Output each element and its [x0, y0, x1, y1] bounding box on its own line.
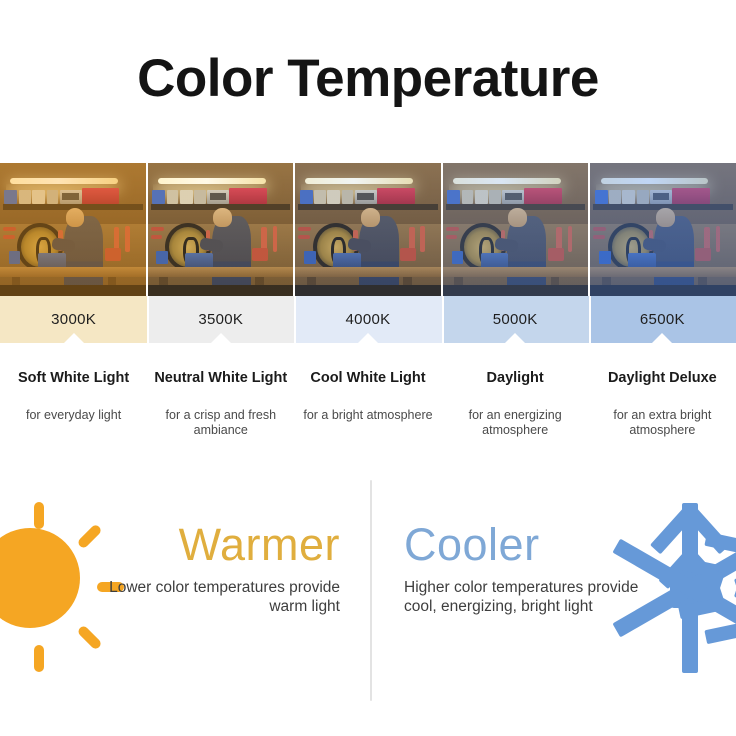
temperature-tint [295, 163, 441, 296]
sun-core [0, 528, 80, 628]
photo-panel-3000k [0, 163, 146, 296]
swatch-pointer-notch [210, 333, 232, 344]
description-cell-3500k: Neutral White Lightfor a crisp and fresh… [147, 355, 294, 480]
description-row: Soft White Lightfor everyday lightNeutra… [0, 355, 736, 480]
kelvin-label: 5000K [493, 311, 538, 328]
warmer-block: Warmer Lower color temperatures provide … [95, 522, 340, 616]
kelvin-swatch-3000k[interactable]: 3000K [0, 296, 147, 343]
light-type-name: Cool White Light [300, 370, 435, 388]
kelvin-label: 3500K [198, 311, 243, 328]
warm-cool-comparison: Warmer Lower color temperatures provide … [0, 480, 736, 736]
light-type-description: for an extra bright atmosphere [595, 408, 730, 439]
light-type-name: Soft White Light [6, 370, 141, 388]
sun-ray [34, 645, 44, 672]
photo-panel-5000k [441, 163, 589, 296]
sun-ray [0, 624, 2, 650]
swatch-pointer-notch [651, 333, 673, 344]
page-title: Color Temperature [137, 52, 599, 105]
light-type-description: for an energizing atmosphere [448, 408, 583, 439]
photo-panel-3500k [146, 163, 294, 296]
temperature-tint [0, 163, 146, 296]
swatch-pointer-notch [504, 333, 526, 344]
kelvin-swatch-row: 3000K3500K4000K5000K6500K [0, 296, 736, 343]
description-cell-3000k: Soft White Lightfor everyday light [0, 355, 147, 480]
kelvin-swatch-5000k[interactable]: 5000K [442, 296, 589, 343]
kelvin-label: 4000K [346, 311, 391, 328]
kelvin-swatch-3500k[interactable]: 3500K [147, 296, 294, 343]
snowflake-icon [600, 498, 736, 678]
light-type-name: Daylight Deluxe [595, 370, 730, 388]
photo-panel-6500k [588, 163, 736, 296]
temperature-tint [443, 163, 589, 296]
sun-ray [34, 502, 44, 529]
temperature-tint [590, 163, 736, 296]
light-type-name: Daylight [448, 370, 583, 388]
light-type-description: for a bright atmosphere [300, 408, 435, 424]
swatch-pointer-notch [357, 333, 379, 344]
warmer-body: Lower color temperatures provide warm li… [95, 578, 340, 616]
description-cell-4000k: Cool White Lightfor a bright atmosphere [294, 355, 441, 480]
swatch-pointer-notch [63, 333, 85, 344]
sun-ray [76, 624, 102, 650]
description-cell-5000k: Daylightfor an energizing atmosphere [442, 355, 589, 480]
title-bar: Color Temperature [0, 0, 736, 163]
kelvin-label: 6500K [640, 311, 685, 328]
temperature-tint [148, 163, 294, 296]
light-type-description: for a crisp and fresh ambiance [153, 408, 288, 439]
kelvin-swatch-4000k[interactable]: 4000K [294, 296, 441, 343]
kelvin-label: 3000K [51, 311, 96, 328]
section-divider [370, 480, 372, 701]
description-cell-6500k: Daylight Deluxefor an extra bright atmos… [589, 355, 736, 480]
warmer-heading: Warmer [95, 522, 340, 567]
photo-comparison-strip [0, 163, 736, 296]
light-type-name: Neutral White Light [153, 370, 288, 388]
light-type-description: for everyday light [6, 408, 141, 424]
kelvin-swatch-6500k[interactable]: 6500K [589, 296, 736, 343]
photo-panel-4000k [293, 163, 441, 296]
